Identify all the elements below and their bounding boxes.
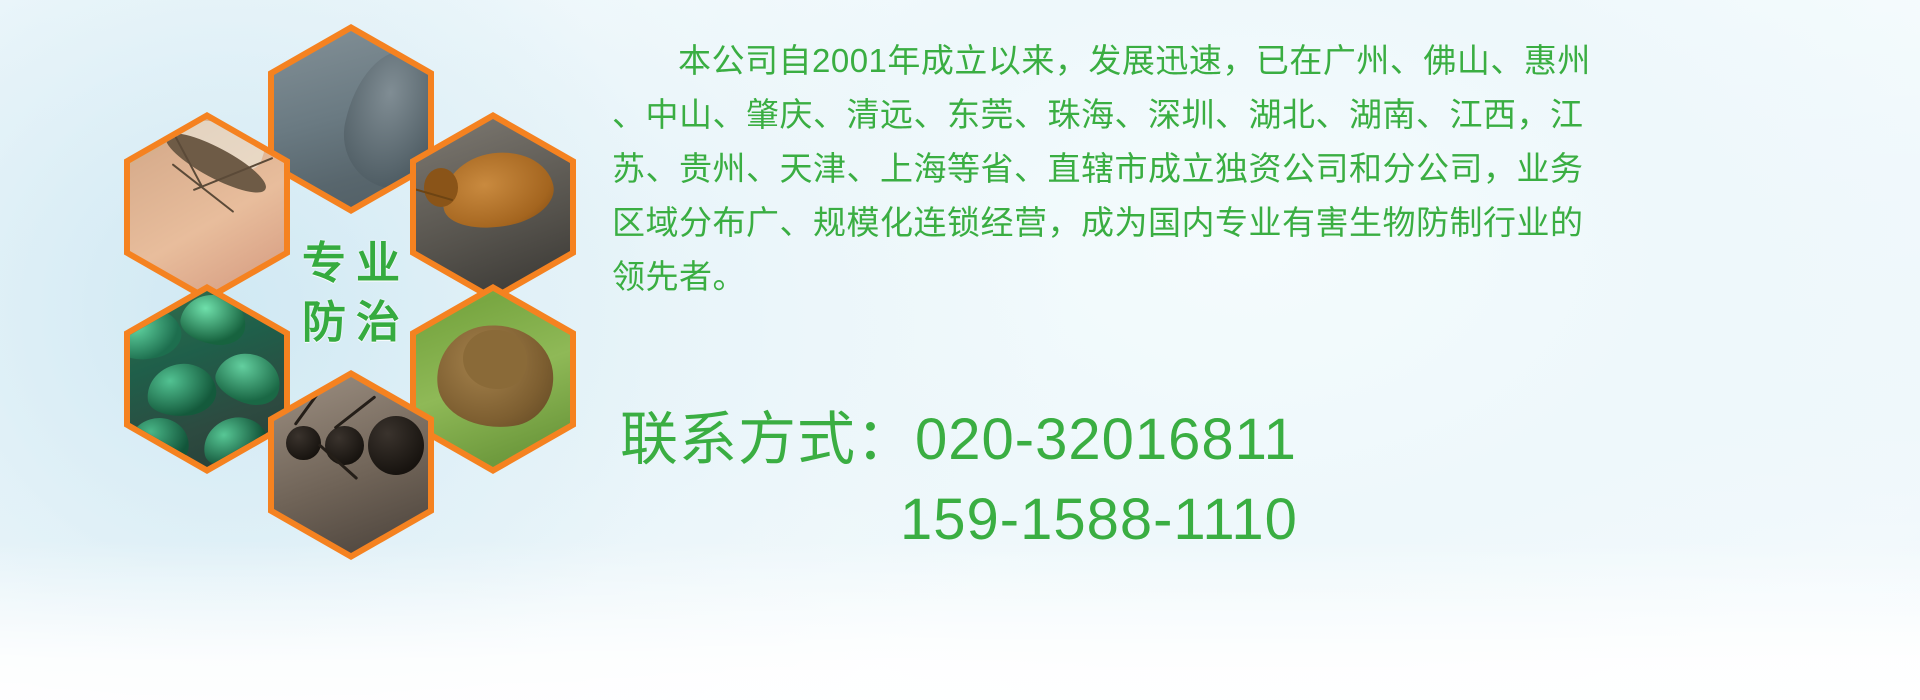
rat-tail-shape <box>274 31 387 53</box>
description-line-2: 、中山、肇庆、清远、东莞、珠海、深圳、湖北、湖南、江西，江 <box>612 88 1880 142</box>
description-line-5: 领先者。 <box>612 250 1880 304</box>
hex-label-line1: 专业 <box>292 234 410 293</box>
hex-inner-stink-bug <box>416 291 570 467</box>
hex-cell-stink-bug[interactable] <box>410 284 576 474</box>
fly-3 <box>144 361 218 420</box>
hex-center-label: 专业 防治 <box>268 198 434 388</box>
description-line-1: 本公司自2001年成立以来，发展迅速，已在广州、佛山、惠州 <box>612 34 1880 88</box>
flies-photo <box>130 291 284 467</box>
rats-photo <box>274 31 428 207</box>
promo-banner: 专业 防治 本公司自2001年成立以来，发展迅速，已在广州、佛山、惠州 、中山、… <box>0 0 1920 700</box>
cockroach-photo <box>416 119 570 295</box>
hexagon-photo-cluster: 专业 防治 <box>88 8 608 568</box>
hex-label-line2: 防治 <box>292 293 410 352</box>
description-line-3: 苏、贵州、天津、上海等省、直辖市成立独资公司和分公司，业务 <box>612 142 1880 196</box>
fly-5 <box>130 416 191 467</box>
ant-leg-3 <box>294 389 322 426</box>
mosquito-photo <box>130 119 284 295</box>
stink-bug-shield <box>463 330 528 389</box>
ant-head <box>286 426 320 460</box>
ant-photo <box>274 377 428 553</box>
fly-6 <box>198 412 272 467</box>
contact-phone-mobile[interactable]: 159-1588-1110 <box>620 480 1900 560</box>
hex-cell-ant[interactable] <box>268 370 434 560</box>
ant-thorax <box>325 426 364 465</box>
contact-block: 联系方式：020-32016811 159-1588-1110 <box>620 400 1900 560</box>
hex-cell-flies[interactable] <box>124 284 290 474</box>
hex-cell-cockroach[interactable] <box>410 112 576 302</box>
ant-abdomen <box>368 416 424 475</box>
hex-inner-mosquito <box>130 119 284 295</box>
contact-phone-landline[interactable]: 联系方式：020-32016811 <box>620 400 1900 480</box>
hex-inner-rats <box>274 31 428 207</box>
fly-1 <box>130 303 186 366</box>
stink-bug-photo <box>416 291 570 467</box>
hex-cell-mosquito[interactable] <box>124 112 290 302</box>
fly-2 <box>177 291 249 350</box>
hex-inner-flies <box>130 291 284 467</box>
description-line-4: 区域分布广、规模化连锁经营，成为国内专业有害生物防制行业的 <box>612 196 1880 250</box>
hex-cell-rats[interactable] <box>268 24 434 214</box>
hex-inner-cockroach <box>416 119 570 295</box>
hex-inner-ant <box>274 377 428 553</box>
ant-leg-2 <box>334 395 377 429</box>
company-description: 本公司自2001年成立以来，发展迅速，已在广州、佛山、惠州 、中山、肇庆、清远、… <box>612 34 1880 304</box>
